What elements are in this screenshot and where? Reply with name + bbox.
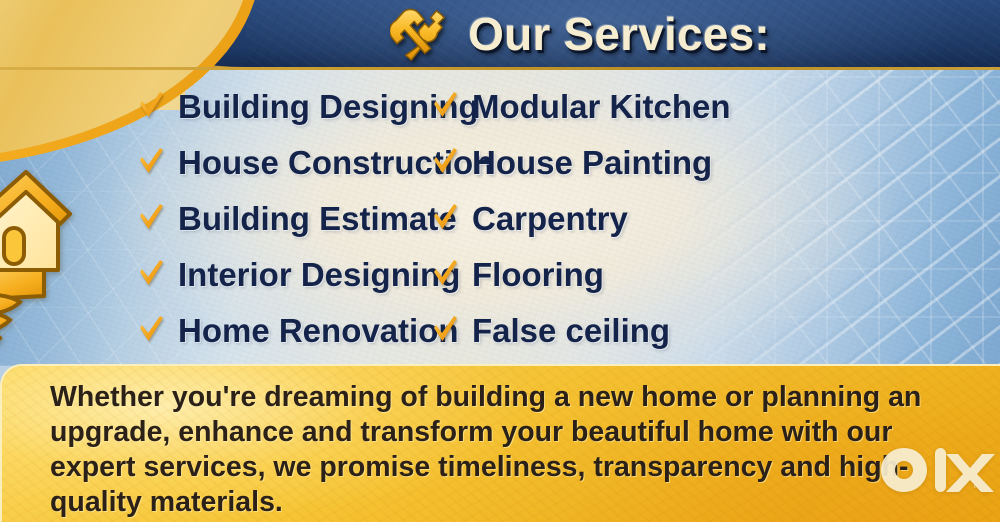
header-gold-divider [0, 67, 1000, 70]
service-item: Building Designing [138, 82, 420, 132]
service-item-label: Modular Kitchen [472, 88, 731, 126]
check-icon [138, 258, 164, 293]
service-item: Building Estimate [138, 194, 420, 244]
services-list: Building Designing House Construction Bu… [0, 78, 1000, 360]
service-item: House Construction [138, 138, 420, 188]
header-bar: Our Services: [160, 0, 1000, 70]
check-icon [138, 90, 164, 125]
service-item-label: Building Estimate [178, 200, 457, 238]
service-item-label: False ceiling [472, 312, 670, 350]
check-icon [432, 90, 458, 125]
olx-watermark: TM [880, 446, 986, 494]
service-item-label: Flooring [472, 256, 604, 294]
check-icon [138, 314, 164, 349]
services-column-right: Modular Kitchen House Painting Carpentry… [420, 78, 890, 360]
service-item-label: Interior Designing [178, 256, 460, 294]
tagline-band: Whether you're dreaming of building a ne… [0, 364, 1000, 522]
service-item: Home Renovation [138, 306, 420, 356]
service-item-label: House Painting [472, 144, 712, 182]
tagline-text: Whether you're dreaming of building a ne… [50, 380, 950, 520]
service-item-label: Carpentry [472, 200, 628, 238]
page-title: Our Services: [468, 7, 770, 61]
hammer-wrench-icon [390, 7, 452, 61]
services-poster: Our Services: [0, 0, 1000, 522]
check-icon [138, 202, 164, 237]
check-icon [432, 314, 458, 349]
hand-holding-house-icon [0, 150, 106, 365]
header-content: Our Services: [160, 0, 1000, 67]
check-icon [432, 202, 458, 237]
service-item: Modular Kitchen [432, 82, 890, 132]
check-icon [432, 146, 458, 181]
service-item: House Painting [432, 138, 890, 188]
check-icon [432, 258, 458, 293]
service-item: Interior Designing [138, 250, 420, 300]
service-item-label: Home Renovation [178, 312, 459, 350]
service-item: False ceiling [432, 306, 890, 356]
check-icon [138, 146, 164, 181]
service-item: Carpentry [432, 194, 890, 244]
service-item: Flooring [432, 250, 890, 300]
